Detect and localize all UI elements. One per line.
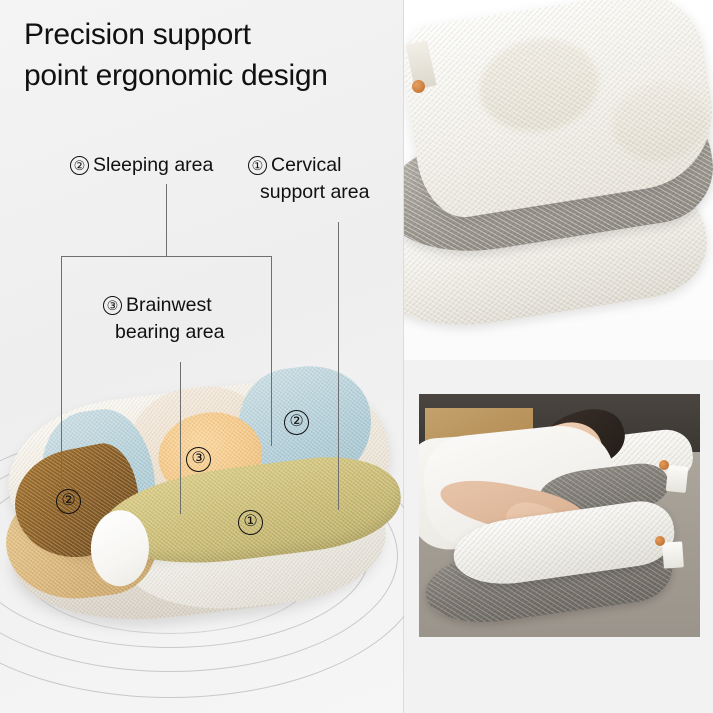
label-brainwest-bearing-area: ③Brainwest bearing area [103, 292, 283, 346]
woman-sleeping-on-pillow-photo [419, 394, 700, 637]
diagram-panel: ② ② ③ ① [0, 0, 404, 713]
stacked-pillows-product-photo [404, 0, 713, 360]
label-text-brainwest-line2: bearing area [103, 319, 283, 346]
pillow-marker-cervical: ① [238, 510, 263, 535]
bracket-top-horizontal [61, 256, 272, 257]
page-title: Precision support point ergonomic design [24, 14, 414, 96]
leader-line-cervical-area [338, 222, 339, 510]
label-number-brainwest: ③ [103, 296, 122, 315]
photo-rear-pillow-tag [666, 465, 689, 493]
pillow-marker-sleeping-right: ② [284, 410, 309, 435]
photo-cervical-dip-left [472, 30, 605, 140]
label-text-brainwest-line1: Brainwest [126, 294, 212, 316]
label-number-cervical: ① [248, 156, 267, 175]
label-number-sleeping: ② [70, 156, 89, 175]
photo-rear-badge-icon [659, 460, 669, 470]
pillow-marker-brainwest: ③ [186, 447, 211, 472]
bracket-right-leg [271, 256, 272, 446]
label-text-cervical-line2: support area [248, 179, 383, 206]
infographic-root: ② ② ③ ① Precis [0, 0, 713, 713]
label-cervical-support-area: ①Cervical support area [248, 152, 383, 206]
leader-line-brainwest-area [180, 362, 181, 514]
label-sleeping-area: ②Sleeping area [70, 152, 213, 179]
bracket-left-leg [61, 256, 62, 490]
label-text-cervical-line1: Cervical [271, 154, 341, 176]
pillow-marker-sleeping-left: ② [56, 489, 81, 514]
photo-cervical-dip-right [607, 76, 713, 168]
label-text-sleeping: Sleeping area [93, 154, 213, 176]
photo-front-badge-icon [655, 536, 665, 546]
photo-front-pillow-tag [662, 541, 684, 568]
leader-line-sleeping-area [166, 184, 167, 256]
